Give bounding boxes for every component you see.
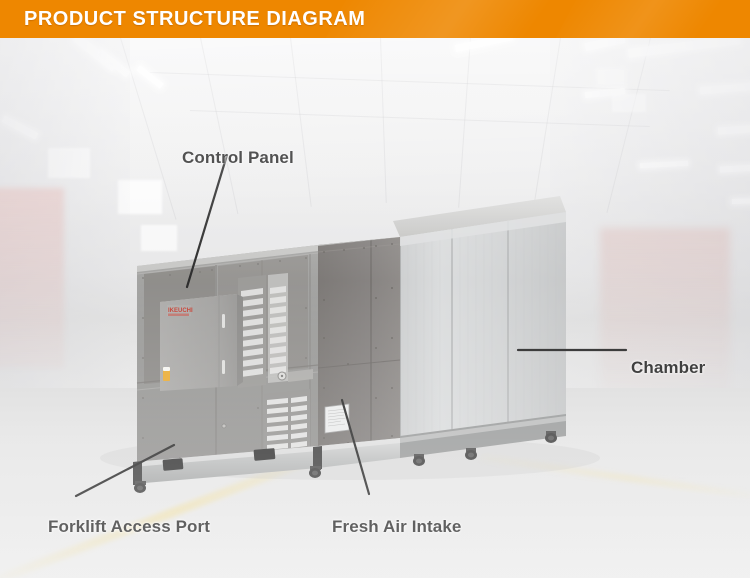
callout-label-chamber: Chamber: [631, 358, 705, 378]
caster-front-left: [134, 481, 146, 493]
forklift-access-port-right: [254, 448, 276, 461]
chamber-front-face: [400, 212, 566, 448]
callout-label-forklift-access-port: Forklift Access Port: [48, 517, 210, 537]
caster-right-mid: [465, 448, 477, 460]
diagram-stage: IKEUCHI: [0, 38, 750, 578]
warning-sticker-band: [163, 367, 170, 371]
caster-front-mid: [309, 466, 321, 478]
brand-logo-underline: [168, 314, 189, 317]
product-structure-diagram-page: PRODUCT STRUCTURE DIAGRAM: [0, 0, 750, 578]
forklift-access-port-left: [163, 458, 184, 471]
upper-louver-slots: [241, 288, 263, 377]
door-latch[interactable]: [222, 424, 226, 428]
fresh-air-intake-plate: [325, 404, 349, 433]
callout-label-control-panel: Control Panel: [182, 148, 294, 168]
header-banner: PRODUCT STRUCTURE DIAGRAM: [0, 0, 750, 38]
control-panel-handle-upper[interactable]: [222, 314, 225, 328]
control-panel-handle-lower[interactable]: [222, 360, 225, 374]
page-title: PRODUCT STRUCTURE DIAGRAM: [24, 0, 365, 38]
machine-svg: IKEUCHI: [0, 38, 750, 578]
machine-illustration: IKEUCHI: [0, 38, 750, 578]
banner-sheen-decoration-2: [533, 0, 736, 38]
caster-right-front: [413, 454, 425, 466]
upper-louver-slots-right: [270, 286, 286, 374]
callout-label-fresh-air-intake: Fresh Air Intake: [332, 517, 461, 537]
caster-right-rear: [545, 431, 557, 443]
pressure-gauge-center: [281, 375, 283, 377]
brand-logo-text: IKEUCHI: [168, 308, 193, 314]
control-panel-side: [237, 294, 243, 386]
